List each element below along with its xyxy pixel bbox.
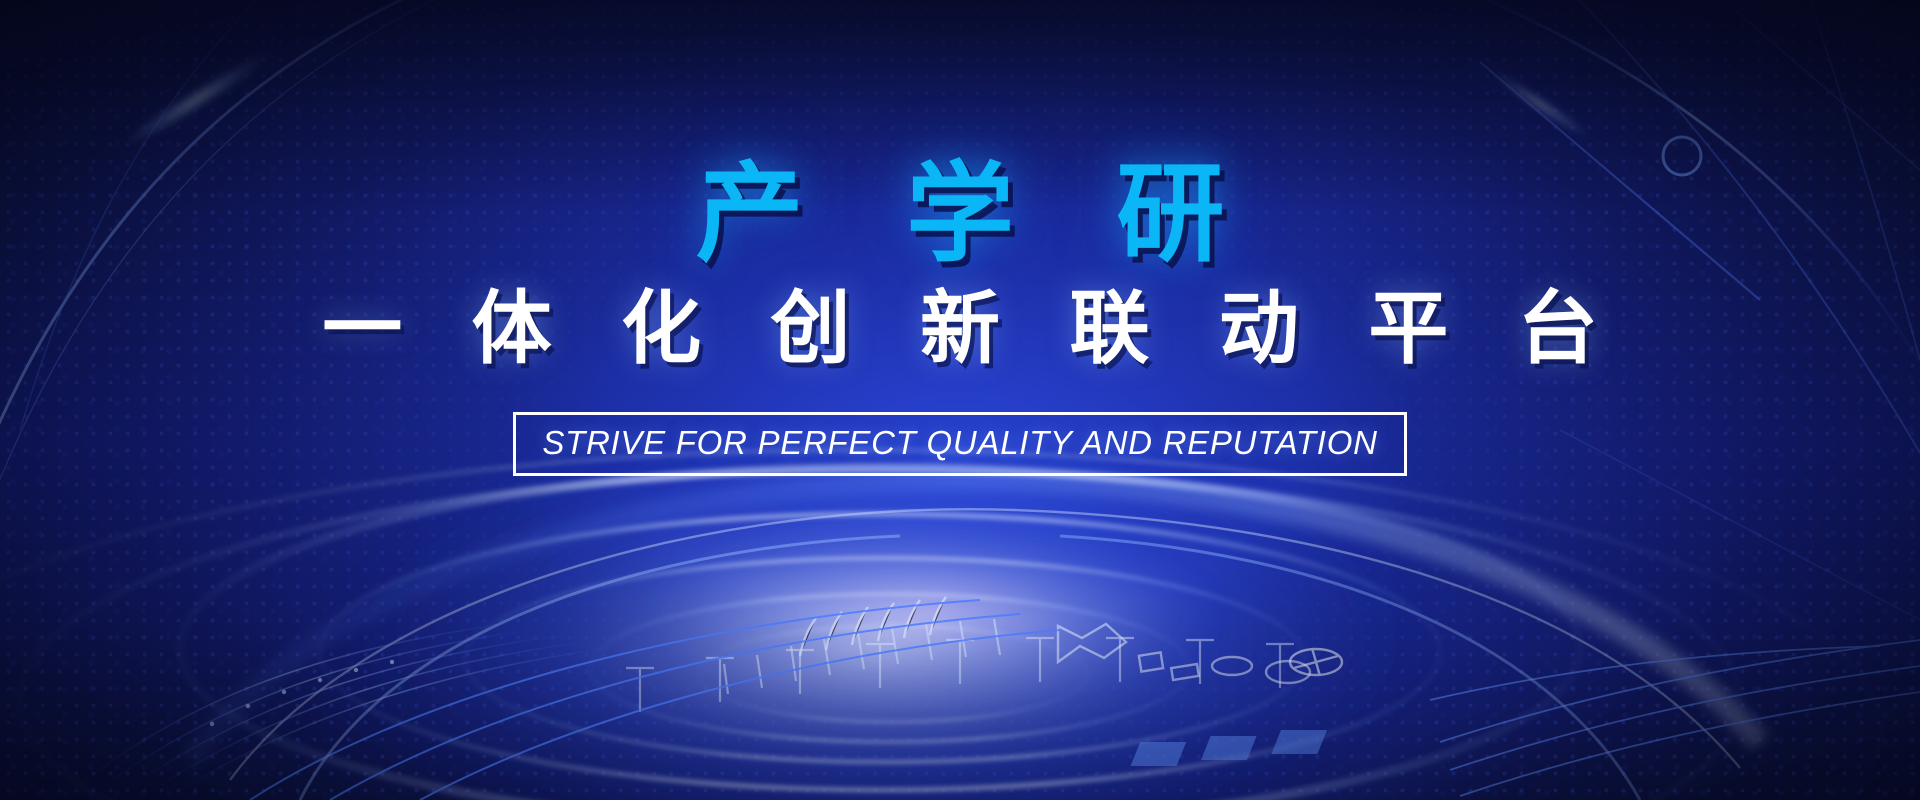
headline-primary: 产 学 研 bbox=[663, 160, 1257, 270]
headline-secondary: 一 体 化 创 新 联 动 平 台 bbox=[301, 288, 1618, 370]
banner-content: 产 学 研 一 体 化 创 新 联 动 平 台 STRIVE FOR PERFE… bbox=[0, 0, 1920, 476]
hero-banner: 产 学 研 一 体 化 创 新 联 动 平 台 STRIVE FOR PERFE… bbox=[0, 0, 1920, 800]
tagline-box: STRIVE FOR PERFECT QUALITY AND REPUTATIO… bbox=[513, 412, 1406, 476]
tagline-english: STRIVE FOR PERFECT QUALITY AND REPUTATIO… bbox=[542, 424, 1377, 462]
